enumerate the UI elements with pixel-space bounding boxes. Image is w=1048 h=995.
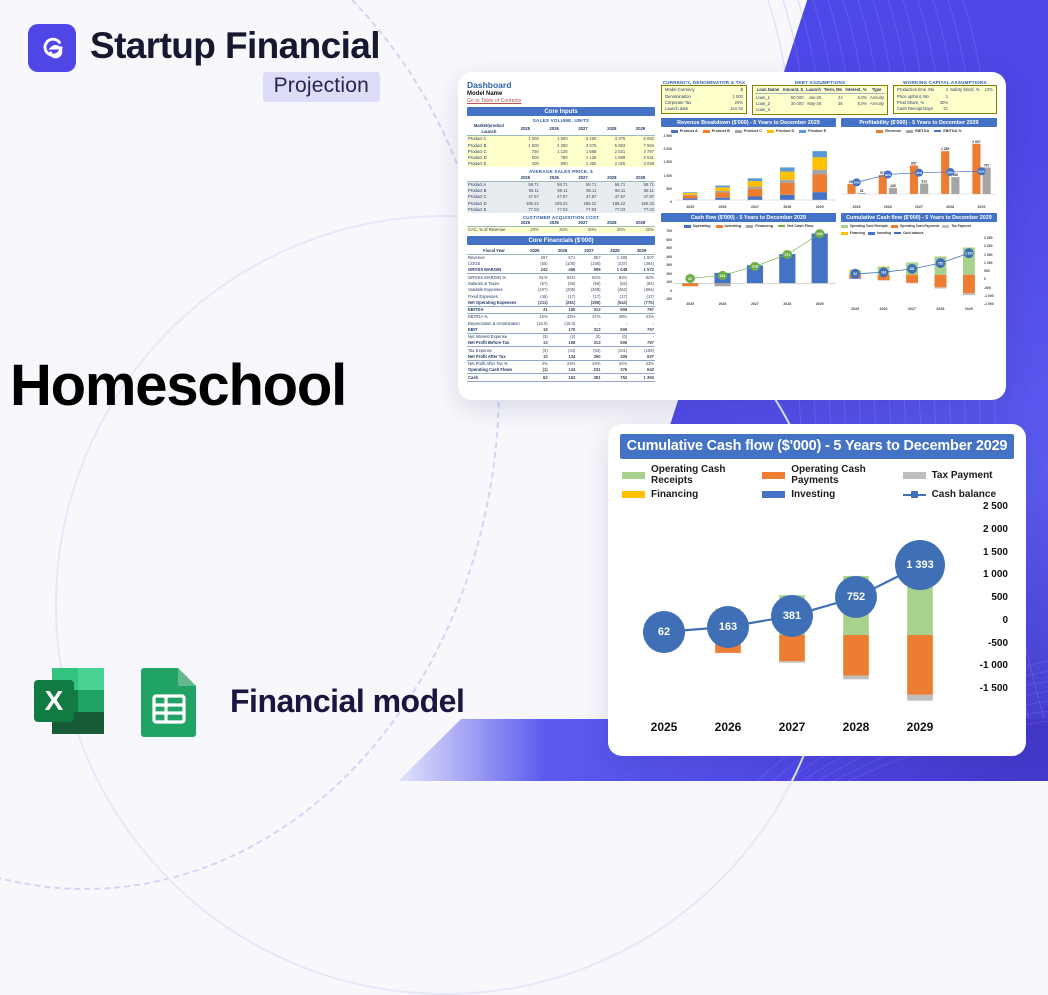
bar-segment [779,661,805,663]
row-label: Tax Expense [467,347,521,354]
sales-volume-table: Market/product Launch 2025 2026 2027 202… [467,123,655,167]
svg-text:41%: 41% [978,170,985,174]
legend-item: Revenue [876,129,901,133]
core-financials-table: Fiscal Year 2025 2026 2027 2028 2029 Rev… [467,247,655,381]
row-value: (3) [521,347,549,354]
row-value: 376 [602,367,629,374]
year-header: 2025 [511,123,540,135]
year-header: 2027 [576,247,601,254]
legend-label: Tax Payment [932,470,993,481]
cash-balance-marker: 381 [771,595,813,637]
table-row: Product A58.7158.7158.7158.7158.71 [467,181,655,188]
row-value: (34) [549,347,577,354]
row-value: 506 [602,306,629,313]
table-row: Tax Expense(3)(34)(63)(101)(159) [467,347,655,354]
row-value: 134 [549,354,577,361]
row-value: 81% [521,274,549,281]
e-circular-logo-icon [37,33,67,63]
row-label: Cash [467,374,521,381]
legend-item: Product B [703,129,730,133]
cash-balance-marker: 163 [707,606,749,648]
dashboard-toc-link[interactable]: Go to Table of Contents [467,98,655,104]
legend-item: Financing [746,224,773,228]
legend-item-operating-cash-payments: Operating Cash Payments [762,464,902,486]
chart-y-axis: 2 500 2 000 1 500 1 000 500 0 -500 -1 00… [956,501,1012,694]
legend-item: Operating [684,224,711,228]
row-value: 506 [602,327,629,334]
legend-item: Financing [841,231,865,235]
row-value: 313 [576,327,601,334]
x-tick: 2027 [760,720,824,734]
legend-swatch [762,472,785,479]
row-value: 405 [602,354,629,361]
legend-item: EBITDA [906,129,929,133]
mini-profitability-combo: 297315711858573131 2855062 50779710%32%3… [841,134,997,204]
year-header: 2029 [626,220,655,227]
row-value: 1 572 [628,267,655,274]
legend-label: Operating Cash Payments [791,464,902,486]
svg-text:163: 163 [881,271,886,275]
row-value: 3% [521,360,549,367]
table-row: Operating Cash Flows(1)134231376642 [467,367,655,374]
mini-chart-yaxis: 2 500 2 000 1 500 1 000 500 0 [661,134,672,204]
mini-cumulative-stack: 621633817521 393 [841,236,983,306]
legend-swatch [622,472,645,479]
mini-chart-legend: Operating Investing Financing Net Cash F… [661,224,836,228]
mini-chart-plot: 297315711858573131 2855062 50779710%32%3… [841,134,997,204]
svg-text:313: 313 [921,180,927,184]
row-value: 1 507 [628,254,655,261]
row-value: 797 [628,340,655,347]
row-value: (211) [521,300,549,307]
svg-text:2 507: 2 507 [972,140,980,144]
legend-item: Investing [716,224,742,228]
row-value: 797 [628,327,655,334]
file-type-label: Financial model [230,683,464,720]
legend-label: Cash balance [932,489,996,500]
row-value: 242 [521,267,549,274]
row-value: (101) [602,347,629,354]
mini-cashflow-combo: 62101218371640 [674,229,836,301]
row-value: 699 [576,267,601,274]
svg-text:10%: 10% [853,181,860,185]
table-row: GROSS MARGIN2424666991 0481 572 [467,267,655,274]
x-tick: 2028 [824,720,888,734]
row-value: 37% [576,314,601,321]
legend-item: Operating Cash Receipts [841,224,888,228]
dashboard-charts-column: CURRENCY, DENOMINATOR & TAX Model Curren… [661,80,997,382]
mini-chart-legend: Revenue EBITDA EBITDA % [841,129,997,133]
mini-chart-yaxis: 2 500 2 000 1 500 1 000 500 0 -500 -1 00… [984,236,997,306]
row-value: 32% [602,360,629,367]
cumulative-cash-flow-card[interactable]: Cumulative Cash flow ($'000) - 5 Years t… [608,424,1026,756]
row-label: Net Operating Expenses [467,300,521,307]
row-label: Depreciation & Amortization [467,320,521,326]
mini-chart-title: Profitability ($'000) - 5 Years to Decem… [841,118,997,127]
y-tick: -500 [956,638,1008,649]
row-label: GROSS MARGIN % [467,274,521,281]
svg-text:37%: 37% [916,171,923,175]
page-headline: Homeschool [10,352,346,419]
year-header: 2028 [597,220,626,227]
row-value: 752 [602,374,629,381]
row-value: (1) [521,367,549,374]
row-label: Revenue [467,254,521,261]
chart-title: Cumulative Cash flow ($'000) - 5 Years t… [620,434,1014,459]
row-value: 1 048 [602,267,629,274]
row-label: EBITDA [467,306,521,313]
svg-text:X: X [45,685,64,716]
mini-chart-plot: 621633817521 393 2 500 2 000 1 500 1 000… [841,236,997,306]
bar-segment [843,635,869,676]
table-row: Product A1 0001 5002 2503 3755 062 [467,135,655,142]
row-value: (0) [576,333,601,340]
svg-text:62: 62 [853,272,857,276]
table-row: Loan_160 000Jan-25245.0%Annuity [755,94,885,101]
row-value: 13 [521,340,549,347]
legend-item: Product E [799,129,826,133]
row-value: 231 [576,367,601,374]
brand-subtitle-badge: Projection [263,72,380,102]
table-row: Net Profit Before Tax13168313506797 [467,340,655,347]
row-value: 39% [602,314,629,321]
x-tick: 2025 [632,720,696,734]
legend-label: Operating Cash Receipts [651,464,762,486]
row-value: 466 [549,267,577,274]
mini-chart-xaxis: 2025 2026 2027 2028 2029 [841,307,997,311]
mini-chart-cash-flow[interactable]: Cash flow ($'000) - 5 Years to December … [661,213,836,311]
legend-item: Investing [868,231,891,235]
row-value: 381 [576,374,601,381]
year-header: 2026 [540,123,569,135]
year-header: 2028 [597,123,626,135]
row-value: 82% [602,274,629,281]
legend-item: Tax Payment [942,224,970,228]
svg-text:32%: 32% [885,173,892,177]
mini-chart-plot: 2 500 2 000 1 500 1 000 500 0 [661,134,836,204]
mini-chart-revenue-breakdown[interactable]: Revenue Breakdown ($'000) - 5 Years to D… [661,118,836,209]
row-value: 797 [628,306,655,313]
row-value: 313 [576,340,601,347]
row-value: 62 [521,374,549,381]
year-header: 2027 [569,220,598,227]
brand-title: Startup Financial [90,24,380,68]
brand-lockup: Startup Financial Projection [28,24,380,102]
svg-text:31: 31 [860,189,864,193]
y-tick: -1 000 [956,660,1008,671]
y-tick: 500 [956,592,1008,603]
legend-item-cash-balance: Cash balance [903,489,1012,500]
row-label: GROSS MARGIN [467,267,521,274]
y-tick: 1 000 [956,569,1008,580]
table-row: EBIT16170313506797 [467,327,655,334]
row-value: 250 [576,354,601,361]
mini-chart-xaxis: 2025 2026 2027 2028 2029 [661,205,836,209]
svg-text:857: 857 [911,162,917,166]
legend-item: Operating Cash Payments [891,224,940,228]
legend-item: Product A [671,129,698,133]
cash-balance-marker: 62 [643,611,685,653]
mini-chart-xaxis: 2025 2026 2027 2028 2029 [661,302,836,306]
mini-chart-profitability[interactable]: Profitability ($'000) - 5 Years to Decem… [841,118,997,209]
dashboard-inputs-column: Dashboard Model Name Go to Table of Cont… [467,80,655,382]
table-header-row: 2025 2026 2027 2028 2029 [467,174,655,181]
svg-text:640: 640 [817,232,823,236]
average-price-table: 2025 2026 2027 2028 2029 Product A58.715… [467,174,655,213]
mini-chart-title: Cash flow ($'000) - 5 Years to December … [661,213,836,222]
row-value: 168 [549,340,577,347]
table-header-row: Loan Name Amount, $ Launch Term, Mo Inte… [755,87,885,94]
row-value: (2) [549,333,577,340]
row-value: 1 285 [602,254,629,261]
row-value: 10% [521,314,549,321]
legend-swatch [762,491,785,498]
legend-swatch [622,491,645,498]
table-row: EBITDA31185313506797 [467,306,655,313]
table-header-row: Market/product Launch 2025 2026 2027 202… [467,123,655,135]
year-header: 2025 [521,247,549,254]
row-value: (3) [521,333,549,340]
row-label: EBIT [467,327,521,334]
year-header: 2025 [511,174,540,181]
svg-text:39%: 39% [947,170,954,174]
row-label: EBITDA % [467,314,521,321]
mini-chart-legend: Product A Product B Product C Product D … [661,129,836,133]
mini-chart-yaxis: 700 600 500 400 300 200 100 0 -100 [661,229,672,301]
row-value: 857 [576,254,601,261]
panel-title: WORKING CAPITAL ASSUMPTIONS [893,80,997,85]
table-row: Product E4009001 3502 0253 038 [467,161,655,167]
year-header: 2028 [602,247,629,254]
mini-chart-xaxis: 2025 2026 2027 2028 2029 [841,205,997,209]
legend-label: Investing [791,489,835,500]
legend-swatch [903,472,926,479]
row-value: 82% [628,274,655,281]
year-header: 2029 [626,174,655,181]
mini-chart-title: Cumulative Cash flow ($'000) - 5 Years t… [841,213,997,222]
row-label: Net Profit After Tax % [467,360,521,367]
row-value: 642 [628,367,655,374]
year-header: 2026 [540,220,569,227]
row-value: 82% [576,274,601,281]
table-row: Net Interest Expense(3)(2)(0)(0)- [467,333,655,340]
row-value: 10 [521,354,549,361]
svg-text:101: 101 [720,274,726,278]
row-label: Net Profit Before Tax [467,340,521,347]
dashboard-model-name: Model Name [467,91,655,97]
svg-text:797: 797 [984,164,990,168]
row-value: 134 [549,367,577,374]
legend-item: Product D [767,129,794,133]
year-header: 2026 [549,247,577,254]
table-row: Cash Receipt Days21 [896,106,994,112]
x-tick: 2029 [888,720,952,734]
sales-volume-col-header: Market/product Launch [467,123,511,135]
currency-assumptions-panel: CURRENCY, DENOMINATOR & TAX Model Curren… [661,80,747,115]
table-row: Loan_3 [755,107,885,113]
y-tick: 1 500 [956,547,1008,558]
microsoft-excel-icon: X [30,662,108,740]
legend-item: Product C [735,129,762,133]
row-value: (386) [576,300,601,307]
table-row: Launch dateJan-25 [664,106,744,112]
y-tick: 0 [956,615,1008,626]
svg-text:1 393: 1 393 [965,252,973,256]
mini-chart-title: Revenue Breakdown ($'000) - 5 Years to D… [661,118,836,127]
year-header: 2028 [597,174,626,181]
row-value: 81% [549,274,577,281]
row-value: 163 [549,374,577,381]
table-row: EBITDA %10%32%37%39%41% [467,314,655,321]
dashboard-title: Dashboard [467,80,655,90]
bar-segment [843,676,869,680]
row-label: Operating Cash Flows [467,367,521,374]
table-header-row: Fiscal Year 2025 2026 2027 2028 2029 [467,247,655,254]
year-header: 2029 [628,247,655,254]
table-row: Product E77.0377.0377.0377.0377.03 [467,207,655,213]
google-sheets-icon [130,662,208,740]
legend-item-investing: Investing [762,489,902,500]
legend-item-operating-cash-receipts: Operating Cash Receipts [622,464,762,486]
x-tick: 2026 [696,720,760,734]
row-value: (0) [602,333,629,340]
dashboard-preview-card[interactable]: Dashboard Model Name Go to Table of Cont… [458,72,1006,400]
mini-chart-plot: 700 600 500 400 300 200 100 0 -100 62101… [661,229,836,301]
row-value: 185 [549,306,577,313]
mini-revenue-bars [674,134,836,204]
svg-text:185: 185 [890,184,896,188]
year-header: 2027 [569,174,598,181]
row-value: 1 393 [628,374,655,381]
legend-item: Cash balance [894,231,924,235]
bar-segment [779,635,805,661]
row-label: Net Interest Expense [467,333,521,340]
row-value: 31 [521,306,549,313]
chart-legend: Operating Cash Receipts Operating Cash P… [622,464,1012,500]
row-value: 24% [549,360,577,367]
legend-item-financing: Financing [622,489,762,500]
svg-text:1 285: 1 285 [941,147,949,151]
y-tick: 2 000 [956,524,1008,535]
row-value: 29% [576,360,601,367]
row-value: 16 [521,327,549,334]
row-value: 571 [549,254,577,261]
bar-segment [907,635,933,695]
working-capital-panel: WORKING CAPITAL ASSUMPTIONS Production t… [893,80,997,115]
year-header: 2029 [626,123,655,135]
chart-body: 621633817521 393 2 500 2 000 1 500 1 000… [620,510,1014,710]
legend-label: Financing [651,489,698,500]
table-row: Net Profit After Tax %3%24%29%32%33% [467,360,655,367]
table-header-row: 2025 2026 2027 2028 2029 [467,220,655,227]
currency-assumptions-table: Model Currency$ Denomination1 000 Corpor… [664,87,744,112]
row-value: 297 [521,254,549,261]
row-value: (281) [549,300,577,307]
legend-line-swatch [903,494,926,496]
y-tick: 2 500 [956,501,1008,512]
chart-plot-area: 621633817521 393 [632,510,952,710]
svg-text:752: 752 [938,261,943,265]
row-value: 506 [602,340,629,347]
table-row: GROSS MARGIN %81%81%82%82%82% [467,274,655,281]
row-value: 32% [549,314,577,321]
core-inputs-band: Core Inputs [467,107,655,116]
legend-item-tax-payment: Tax Payment [903,464,1012,486]
brand-logo-icon [28,24,76,72]
mini-chart-cumulative-cash-flow[interactable]: Cumulative Cash flow ($'000) - 5 Years t… [841,213,997,311]
row-value: 41% [628,314,655,321]
svg-text:381: 381 [909,267,914,271]
row-value: 313 [576,306,601,313]
file-type-badges: X Financial model [30,662,464,740]
year-header: 2026 [540,174,569,181]
fiscal-year-header: Fiscal Year [467,247,521,254]
table-row: Net Operating Expenses(211)(281)(386)(54… [467,300,655,307]
table-row: Production time, Mo2Safety Stock, %10% [896,87,994,93]
debt-assumptions-panel: DEBT ASSUMPTIONS Loan Name Amount, $ Lau… [752,80,888,115]
row-value: 170 [549,327,577,334]
debt-assumptions-table: Loan Name Amount, $ Launch Term, Mo Inte… [755,87,885,113]
bar-segment [907,695,933,701]
row-label: Net Profit After Tax [467,354,521,361]
panel-title: CURRENCY, DENOMINATOR & TAX [661,80,747,85]
row-value: - [628,333,655,340]
row-value: (775) [628,300,655,307]
row-value: (63) [576,347,601,354]
svg-text:371: 371 [784,253,790,257]
row-value: (159) [628,347,655,354]
year-header: 2027 [569,123,598,135]
working-capital-table: Production time, Mo2Safety Stock, %10% P… [896,87,994,112]
mini-chart-legend: Operating Cash Receipts Operating Cash P… [841,224,997,235]
cash-balance-marker: 1 393 [895,540,945,590]
svg-text:218: 218 [752,265,758,269]
legend-item: Net Cash Flow [778,224,813,228]
table-row: Net Profit After Tax10134250405637 [467,354,655,361]
row-value: (542) [602,300,629,307]
svg-text:62: 62 [688,277,692,281]
row-value: 637 [628,354,655,361]
row-value: 33% [628,360,655,367]
table-row: Cash621633817521 393 [467,374,655,381]
table-row: CAC, % of Revenue20%20%20%20%20% [467,227,655,234]
year-header: 2025 [511,220,540,227]
table-row: Revenue2975718571 2851 507 [467,254,655,261]
legend-item: EBITDA % [934,129,961,133]
core-financials-band: Core Financials ($'000) [467,236,655,245]
y-tick: -1 500 [956,683,1008,694]
cac-table: 2025 2026 2027 2028 2029 CAC, % of Reven… [467,220,655,234]
chart-x-axis: 2025 2026 2027 2028 2029 [632,720,952,734]
